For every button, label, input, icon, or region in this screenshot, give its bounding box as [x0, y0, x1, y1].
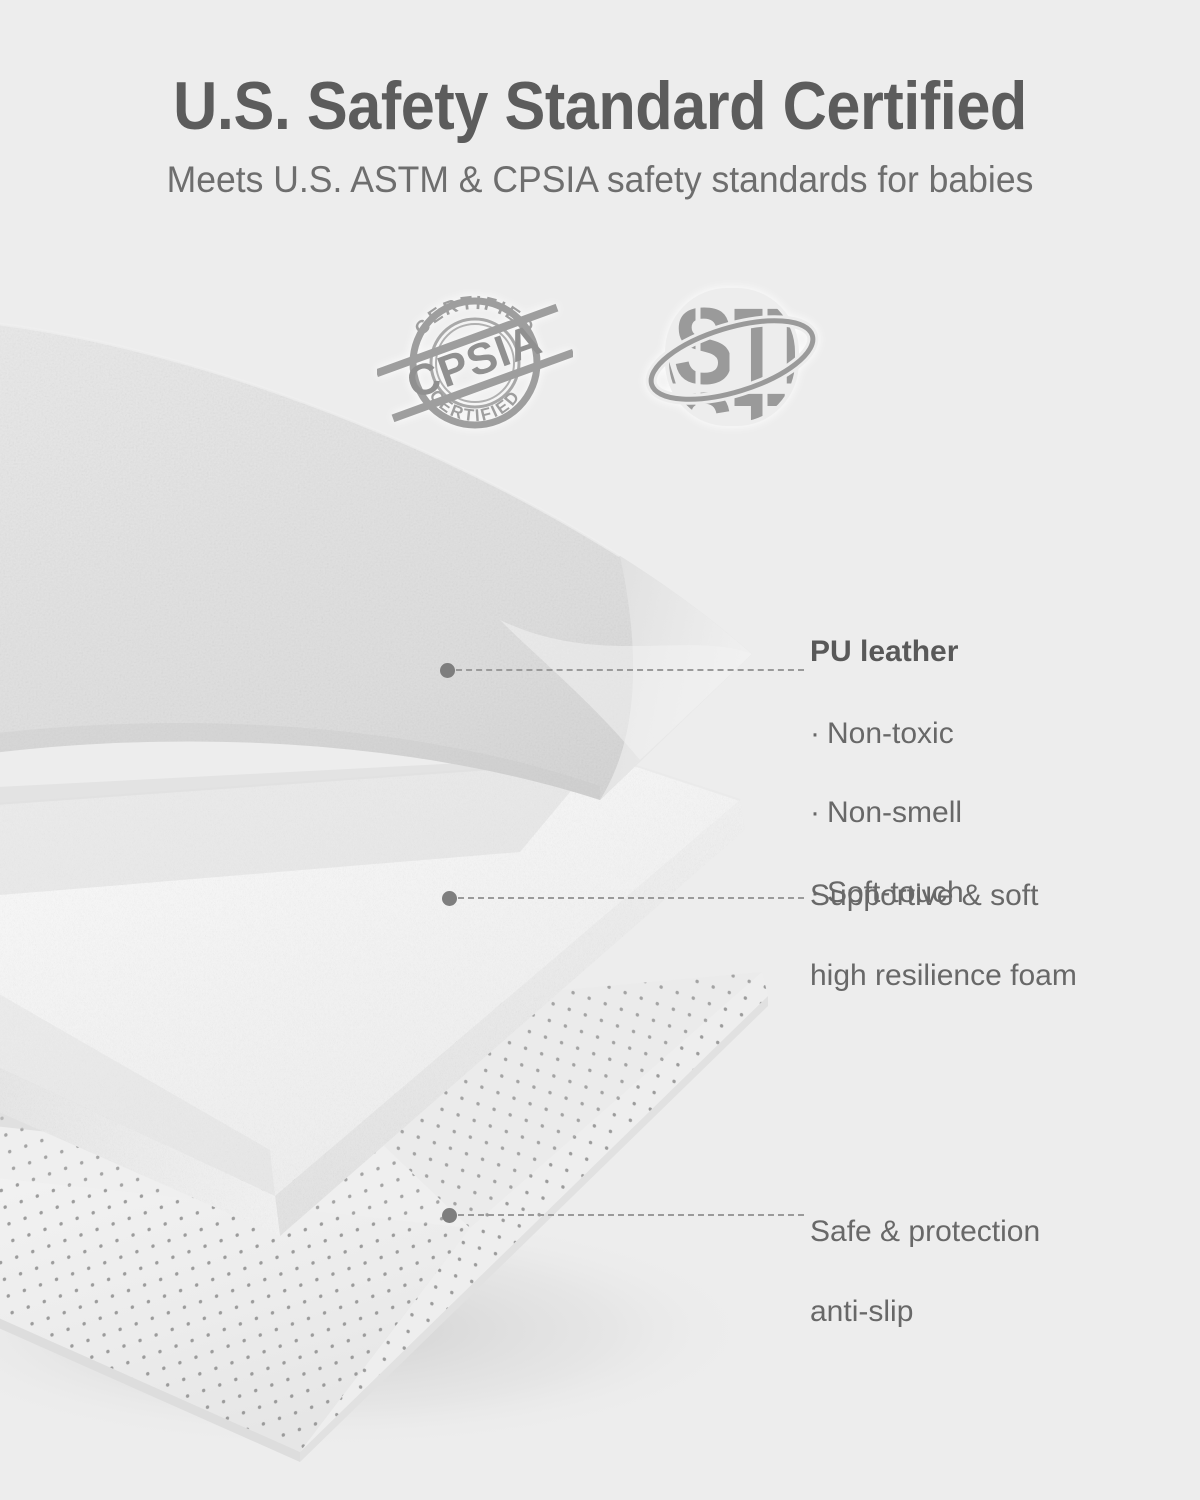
- leader-dot: [440, 663, 455, 678]
- callout-line: Safe & protection: [810, 1212, 1040, 1252]
- callout-line: Supportive & soft: [810, 876, 1077, 916]
- certification-badges: CERTIFIED CERTIFIED CPSIA: [0, 274, 1200, 444]
- callout-anti-slip: Safe & protection anti-slip: [810, 1172, 1040, 1371]
- callout-line: high resilience foam: [810, 956, 1077, 996]
- page-title: U.S. Safety Standard Certified: [60, 0, 1140, 141]
- leader-dot: [442, 1208, 457, 1223]
- callout-foam: Supportive & soft high resilience foam: [810, 836, 1077, 1035]
- header: U.S. Safety Standard Certified Meets U.S…: [0, 0, 1200, 202]
- callout-title-pu-leather: PU leather: [810, 632, 964, 672]
- callout-item-label: Non-toxic: [827, 717, 954, 750]
- astm-badge: ASTM ASTM: [641, 276, 823, 443]
- leader-dot: [442, 891, 457, 906]
- bullet-icon: ·: [810, 796, 820, 829]
- leader-dash: [458, 897, 804, 899]
- bullet-icon: ·: [810, 717, 820, 750]
- callout-item: ·Non-smell: [810, 793, 964, 833]
- callout-item: ·Non-toxic: [810, 714, 964, 754]
- page-subtitle: Meets U.S. ASTM & CPSIA safety standards…: [24, 141, 1176, 202]
- callout-line: anti-slip: [810, 1292, 1040, 1332]
- leader-dash: [458, 1214, 804, 1216]
- callout-item-label: Non-smell: [827, 796, 962, 829]
- infographic-page: U.S. Safety Standard Certified Meets U.S…: [0, 0, 1200, 1500]
- leader-dash: [456, 669, 804, 671]
- cpsia-badge: CERTIFIED CERTIFIED CPSIA: [377, 275, 573, 444]
